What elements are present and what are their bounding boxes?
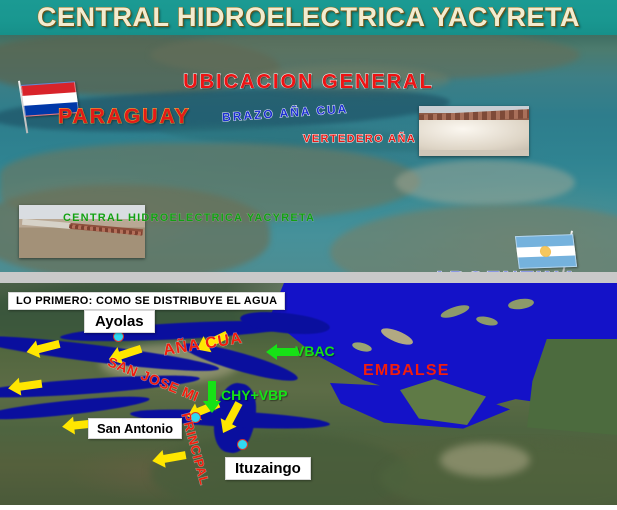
central-hidroelectrica-label: CENTRAL HIDROELECTRICA YACYRETA — [63, 212, 315, 224]
spillway-water-foam — [419, 120, 529, 150]
slide-root: CENTRAL HIDROELECTRICA YACYRETA UBICACIO… — [0, 0, 617, 510]
reservoir-label-embalse: EMBALSE — [363, 362, 450, 380]
sun-of-may-icon — [539, 246, 551, 257]
argentina-flag-icon — [515, 231, 585, 272]
flag-cloth — [515, 234, 577, 269]
top-satellite-panel: UBICACION GENERAL PARAGUAY BRAZO AÑA CUA… — [0, 35, 617, 272]
chy-vbp-arrow-green — [203, 381, 221, 413]
flow-label-chy-vbp: CHY+VBP — [221, 387, 288, 403]
page-title: CENTRAL HIDROELECTRICA YACYRETA — [0, 2, 617, 33]
arrow-head — [203, 401, 221, 413]
bottom-satellite-panel: LO PRIMERO: COMO SE DISTRIBUYE EL AGUA A… — [0, 283, 617, 505]
paraguay-country-label: PARAGUAY — [58, 105, 191, 129]
city-label-ituzaingo: Ituzaingo — [225, 457, 311, 480]
spillway-photo-inset — [419, 106, 529, 156]
flow-label-vbac: VBAC — [295, 343, 335, 359]
arrow-shaft — [19, 380, 43, 391]
sandbar-shape — [440, 443, 530, 477]
city-marker-ituzaingo — [237, 439, 248, 450]
city-label-san-antonio: San Antonio — [88, 418, 182, 439]
vbac-arrow-green — [266, 344, 298, 360]
arrow-shaft — [36, 340, 60, 353]
banner-lo-primero: LO PRIMERO: COMO SE DISTRIBUYE EL AGUA — [8, 292, 285, 310]
arrow-shaft — [208, 381, 216, 403]
title-bar: CENTRAL HIDROELECTRICA YACYRETA — [0, 0, 617, 35]
ubicacion-general-heading: UBICACION GENERAL — [0, 71, 617, 94]
panel-divider — [0, 272, 617, 283]
city-label-ayolas: Ayolas — [84, 310, 155, 333]
landmass-shape — [395, 160, 575, 205]
arrow-shaft — [162, 451, 186, 463]
